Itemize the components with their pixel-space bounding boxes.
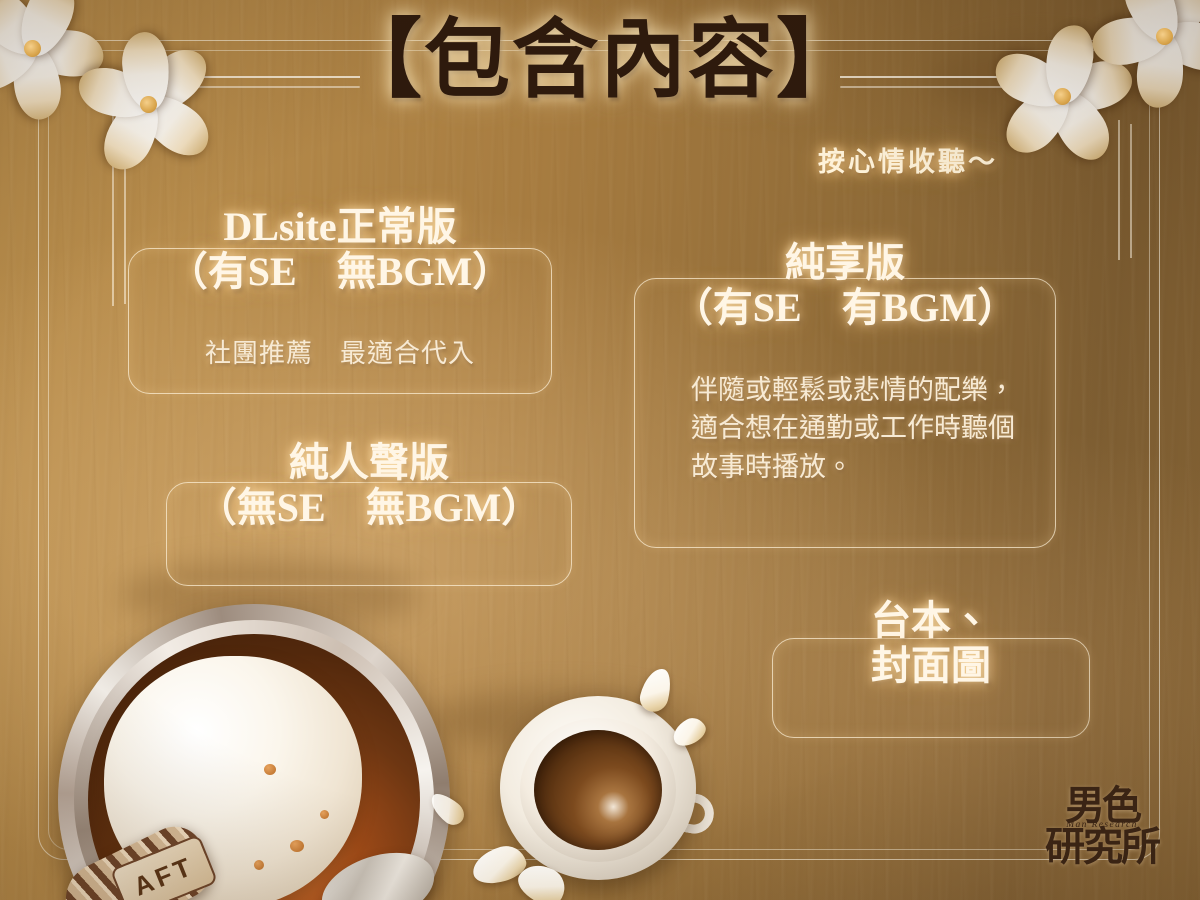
flower-center <box>140 96 157 113</box>
logo-line-3: 研究所 <box>1022 828 1182 866</box>
vignette-overlay <box>0 0 1200 900</box>
flower-center <box>1156 28 1173 45</box>
flower-center <box>24 40 41 57</box>
flower-center <box>1054 88 1071 105</box>
poster-canvas: 【包含內容】 按心情收聽～ DLsite正常版 （有SE 無BGM） 社團推薦 … <box>0 0 1200 900</box>
brand-logo[interactable]: 男色 Man Research 研究所 <box>1022 788 1182 884</box>
